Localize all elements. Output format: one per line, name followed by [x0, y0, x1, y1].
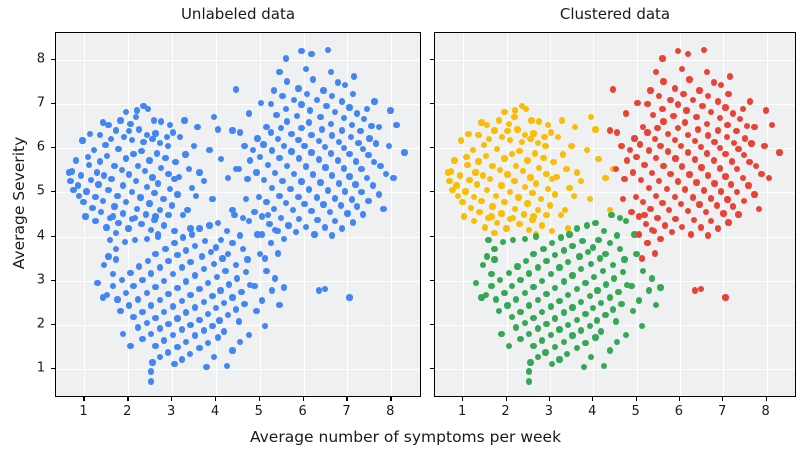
gridline-horizontal [435, 369, 795, 370]
scatter-point [206, 147, 212, 153]
scatter-point [549, 240, 555, 246]
scatter-point [758, 171, 764, 177]
scatter-point [478, 198, 484, 204]
y-tick-mark [430, 236, 434, 237]
scatter-point [711, 157, 717, 163]
scatter-point [368, 123, 374, 129]
scatter-point [463, 154, 469, 160]
scatter-point [215, 126, 221, 132]
scatter-point [284, 163, 290, 169]
scatter-point [209, 323, 215, 329]
scatter-point [137, 194, 143, 200]
y-tick-mark [51, 280, 55, 281]
scatter-point [251, 283, 257, 289]
scatter-point [306, 119, 312, 125]
gridline-horizontal [435, 192, 795, 193]
x-axis-label: Average number of symptoms per week [0, 428, 811, 446]
scatter-point [610, 86, 616, 92]
scatter-point [590, 305, 596, 311]
scatter-point [628, 283, 634, 289]
scatter-point [361, 116, 367, 122]
gridline-vertical [550, 33, 551, 396]
scatter-point [558, 234, 564, 240]
scatter-point [620, 269, 626, 275]
x-tick-mark [766, 397, 767, 401]
scatter-point [644, 129, 650, 135]
scatter-point [549, 361, 555, 367]
scatter-point [87, 131, 93, 137]
scatter-point [260, 141, 266, 147]
scatter-point [310, 171, 316, 177]
scatter-point [225, 312, 231, 318]
y-tick-label: 2 [37, 317, 45, 332]
scatter-point [341, 165, 347, 171]
scatter-point [283, 106, 289, 112]
scatter-point [275, 250, 281, 256]
scatter-point [120, 182, 126, 188]
scatter-point [110, 213, 116, 219]
scatter-point [187, 351, 193, 357]
scatter-point [630, 169, 636, 175]
scatter-point [561, 339, 567, 345]
scatter-point [512, 107, 518, 113]
scatter-point [592, 334, 598, 340]
y-axis-label: Average Severity [10, 83, 28, 323]
scatter-point [179, 264, 185, 270]
scatter-point [528, 117, 534, 123]
scatter-point [548, 303, 554, 309]
scatter-point [192, 304, 198, 310]
scatter-point [507, 137, 513, 143]
scatter-point [202, 238, 208, 244]
gridline-horizontal [56, 369, 420, 370]
scatter-point [496, 117, 502, 123]
scatter-point [529, 190, 535, 196]
scatter-point [201, 266, 207, 272]
scatter-point [553, 174, 559, 180]
scatter-point [171, 228, 177, 234]
scatter-point [165, 258, 171, 264]
scatter-point [306, 186, 312, 192]
scatter-point [157, 297, 163, 303]
scatter-point [592, 126, 598, 132]
scatter-point [556, 298, 562, 304]
y-tick-mark [430, 368, 434, 369]
x-tick-mark [171, 397, 172, 401]
scatter-point [735, 146, 741, 152]
scatter-point [234, 275, 240, 281]
scatter-point [183, 278, 189, 284]
scatter-point [221, 328, 227, 334]
scatter-point [641, 212, 647, 218]
scatter-point [139, 277, 145, 283]
scatter-point [581, 364, 587, 370]
scatter-point [741, 198, 747, 204]
scatter-point [237, 129, 243, 135]
scatter-point [517, 336, 523, 342]
y-tick-mark [51, 324, 55, 325]
scatter-point [246, 332, 252, 338]
scatter-point [308, 208, 314, 214]
gridline-vertical [128, 33, 129, 396]
scatter-point [113, 256, 119, 262]
scatter-point [110, 283, 116, 289]
scatter-point [171, 240, 177, 246]
scatter-point [686, 171, 692, 177]
scatter-point [564, 351, 570, 357]
scatter-point [462, 188, 468, 194]
scatter-point [180, 234, 186, 240]
scatter-point [288, 131, 294, 137]
scatter-point [317, 114, 323, 120]
scatter-point [522, 236, 528, 242]
scatter-point [139, 309, 145, 315]
scatter-point [285, 222, 291, 228]
scatter-point [610, 306, 616, 312]
scatter-point [281, 236, 287, 242]
scatter-point [144, 184, 150, 190]
scatter-point [608, 212, 614, 218]
scatter-point [127, 270, 133, 276]
scatter-point [516, 221, 522, 227]
scatter-point [158, 165, 164, 171]
scatter-point [574, 317, 580, 323]
y-tick-mark [51, 103, 55, 104]
scatter-point [328, 121, 334, 127]
scatter-point [117, 308, 123, 314]
scatter-point [587, 323, 593, 329]
scatter-point [569, 272, 575, 278]
scatter-point [692, 138, 698, 144]
scatter-point [196, 345, 202, 351]
scatter-point [494, 220, 500, 226]
scatter-point [377, 163, 383, 169]
scatter-point [310, 76, 316, 82]
scatter-point [100, 294, 106, 300]
scatter-point [179, 356, 185, 362]
scatter-point [509, 151, 515, 157]
scatter-point [180, 212, 186, 218]
scatter-point [164, 134, 170, 140]
scatter-point [278, 125, 284, 131]
scatter-point [265, 162, 271, 168]
scatter-point [291, 171, 297, 177]
scatter-point [640, 268, 646, 274]
x-tick-label: 7 [718, 404, 726, 419]
scatter-point [493, 296, 499, 302]
scatter-point [613, 166, 619, 172]
gridline-vertical [216, 33, 217, 396]
scatter-point [656, 93, 662, 99]
scatter-point [94, 280, 100, 286]
scatter-point [114, 296, 120, 302]
scatter-point [714, 202, 720, 208]
scatter-point [489, 163, 495, 169]
scatter-point [243, 269, 249, 275]
scatter-point [376, 191, 382, 197]
scatter-point [698, 144, 704, 150]
scatter-point [705, 172, 711, 178]
scatter-point [332, 218, 338, 224]
scatter-point [152, 315, 158, 321]
x-tick-mark [636, 397, 637, 401]
scatter-point [370, 182, 376, 188]
y-tick-mark [51, 236, 55, 237]
scatter-point [206, 222, 212, 228]
scatter-point [140, 139, 146, 145]
scatter-point [548, 129, 554, 135]
scatter-point [675, 48, 681, 54]
scatter-point [746, 159, 752, 165]
scatter-point [380, 206, 386, 212]
scatter-point [465, 131, 471, 137]
scatter-point [135, 163, 141, 169]
scatter-point [148, 270, 154, 276]
scatter-point [526, 378, 532, 384]
scatter-point [134, 107, 140, 113]
x-tick-label: 2 [123, 404, 131, 419]
scatter-point [587, 196, 593, 202]
scatter-point [283, 200, 289, 206]
scatter-point [717, 115, 723, 121]
scatter-point [633, 154, 639, 160]
scatter-point [121, 134, 127, 140]
scatter-point [132, 237, 138, 243]
scatter-point [132, 215, 138, 221]
scatter-point [506, 121, 512, 127]
scatter-point [298, 125, 304, 131]
scatter-point [251, 209, 257, 215]
scatter-point [268, 129, 274, 135]
scatter-point [517, 309, 523, 315]
scatter-point [720, 210, 726, 216]
scatter-point [484, 122, 490, 128]
scatter-point [568, 143, 574, 149]
scatter-point [536, 165, 542, 171]
scatter-point [229, 294, 235, 300]
x-tick-mark [215, 397, 216, 401]
y-tick-label: 7 [37, 95, 45, 110]
scatter-point [753, 163, 759, 169]
scatter-point [133, 178, 139, 184]
scatter-point [201, 299, 207, 305]
scatter-point [283, 55, 289, 61]
scatter-point [174, 191, 180, 197]
scatter-point [637, 141, 643, 147]
scatter-point [339, 127, 345, 133]
scatter-point [134, 206, 140, 212]
scatter-point [506, 343, 512, 349]
x-tick-label: 1 [458, 404, 466, 419]
scatter-point [646, 287, 652, 293]
scatter-point [552, 252, 558, 258]
x-tick-label: 4 [211, 404, 219, 419]
scatter-point [322, 224, 328, 230]
scatter-point [290, 207, 296, 213]
scatter-point [136, 126, 142, 132]
scatter-point [344, 210, 350, 216]
scatter-point [533, 180, 539, 186]
scatter-point [493, 193, 499, 199]
scatter-point [664, 186, 670, 192]
scatter-point [685, 132, 691, 138]
scatter-point [373, 140, 379, 146]
scatter-point [196, 225, 202, 231]
scatter-point [341, 115, 347, 121]
scatter-point [241, 301, 247, 307]
scatter-point [226, 281, 232, 287]
scatter-point [224, 228, 230, 234]
scatter-point [545, 122, 551, 128]
scatter-point [561, 247, 567, 253]
scatter-point [631, 135, 637, 141]
axes-unlabeled [55, 32, 421, 397]
scatter-point [601, 228, 607, 234]
scatter-point [358, 166, 364, 172]
scatter-point [560, 151, 566, 157]
scatter-point [548, 332, 554, 338]
scatter-point [196, 169, 202, 175]
y-tick-label: 3 [37, 272, 45, 287]
scatter-point [365, 198, 371, 204]
x-tick-mark [127, 397, 128, 401]
scatter-point [548, 271, 554, 277]
scatter-point [218, 237, 224, 243]
scatter-point [233, 86, 239, 92]
scatter-point [514, 263, 520, 269]
scatter-point [475, 132, 481, 138]
scatter-point [261, 177, 267, 183]
scatter-point [371, 98, 377, 104]
scatter-point [135, 296, 141, 302]
scatter-point [488, 213, 494, 219]
scatter-point [558, 212, 564, 218]
scatter-point [475, 158, 481, 164]
scatter-point [73, 157, 79, 163]
scatter-point [718, 188, 724, 194]
scatter-point [130, 283, 136, 289]
scatter-point [296, 216, 302, 222]
gridline-vertical [172, 33, 173, 396]
scatter-point [349, 196, 355, 202]
scatter-point [194, 124, 200, 130]
scatter-point [146, 200, 152, 206]
scatter-point [693, 114, 699, 120]
scatter-point [514, 126, 520, 132]
scatter-point [526, 270, 532, 276]
scatter-point [516, 148, 522, 154]
scatter-point [298, 101, 304, 107]
scatter-point [152, 251, 158, 257]
scatter-point [296, 155, 302, 161]
scatter-point [592, 220, 598, 226]
scatter-point [108, 176, 114, 182]
gridline-vertical [507, 33, 508, 396]
gridline-vertical [391, 33, 392, 396]
scatter-point [329, 132, 335, 138]
scatter-point [501, 199, 507, 205]
scatter-point [623, 110, 629, 116]
scatter-point [519, 139, 525, 145]
scatter-point [549, 228, 555, 234]
scatter-point [187, 259, 193, 265]
scatter-point [233, 306, 239, 312]
gridline-horizontal [56, 60, 420, 61]
scatter-point [644, 240, 650, 246]
scatter-point [578, 327, 584, 333]
scatter-point [480, 172, 486, 178]
scatter-point [611, 275, 617, 281]
scatter-point [705, 132, 711, 138]
gridline-vertical [593, 33, 594, 396]
scatter-point [100, 119, 106, 125]
scatter-point [733, 128, 739, 134]
gridline-horizontal [56, 104, 420, 105]
scatter-point [496, 308, 502, 314]
scatter-point [536, 118, 542, 124]
scatter-point [552, 191, 558, 197]
scatter-point [613, 318, 619, 324]
scatter-point [565, 322, 571, 328]
scatter-point [303, 224, 309, 230]
scatter-point [325, 187, 331, 193]
scatter-point [696, 201, 702, 207]
scatter-point [715, 225, 721, 231]
scatter-point [530, 213, 536, 219]
scatter-point [562, 207, 568, 213]
scatter-point [284, 118, 290, 124]
scatter-point [157, 354, 163, 360]
gridline-vertical [680, 33, 681, 396]
scatter-point [526, 331, 532, 337]
scatter-point [660, 118, 666, 124]
scatter-point [221, 300, 227, 306]
scatter-point [192, 243, 198, 249]
scatter-point [445, 169, 451, 175]
scatter-point [217, 287, 223, 293]
scatter-point [511, 114, 517, 120]
scatter-point [136, 263, 142, 269]
scatter-point [151, 117, 157, 123]
scatter-point [119, 167, 125, 173]
x-tick-label: 6 [675, 404, 683, 419]
scatter-point [225, 175, 231, 181]
scatter-point [352, 181, 358, 187]
scatter-point [117, 117, 123, 123]
scatter-point [219, 255, 225, 261]
scatter-point [510, 215, 516, 221]
scatter-point [510, 237, 516, 243]
scatter-point [229, 240, 235, 246]
scatter-point [263, 199, 269, 205]
scatter-point [519, 103, 525, 109]
scatter-point [675, 101, 681, 107]
scatter-point [621, 176, 627, 182]
scatter-point [355, 140, 361, 146]
scatter-point [314, 217, 320, 223]
scatter-point [329, 93, 335, 99]
scatter-point [186, 166, 192, 172]
scatter-point [240, 246, 246, 252]
scatter-point [744, 123, 750, 129]
scatter-point [672, 137, 678, 143]
scatter-point [488, 283, 494, 289]
scatter-point [126, 171, 132, 177]
scatter-point [70, 187, 76, 193]
scatter-point [698, 224, 704, 230]
scatter-point [595, 237, 601, 243]
scatter-point [657, 236, 663, 242]
